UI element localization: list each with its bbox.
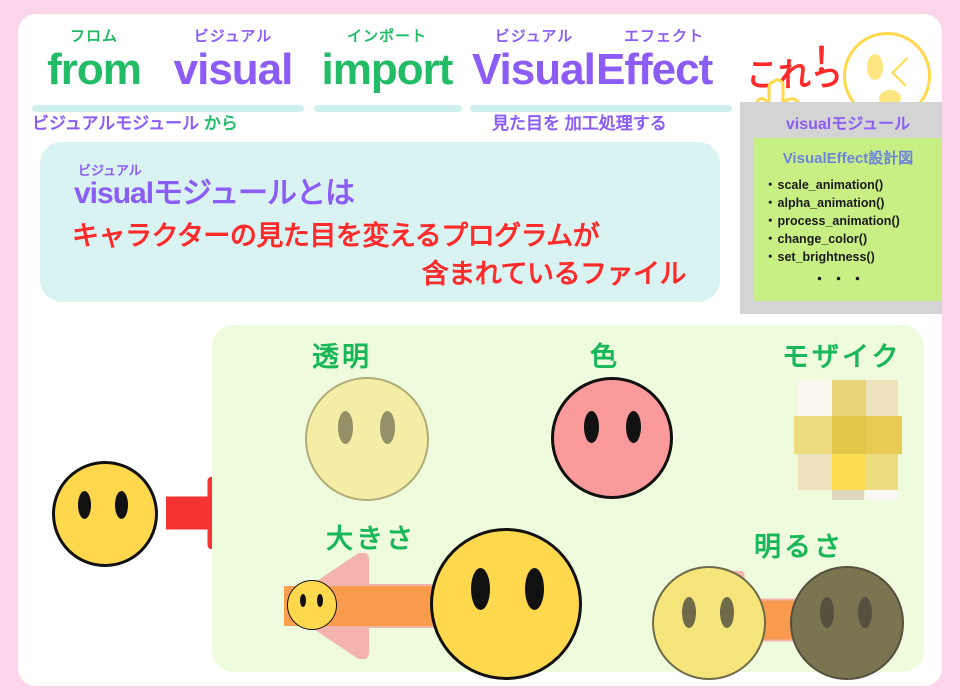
face-size-small-eye-right [317, 594, 323, 607]
face-transparency-eye-right [380, 411, 395, 444]
blueprint-box: VisualEffect設計図 scale_animation() alpha_… [754, 138, 942, 301]
list-item: scale_animation() [764, 176, 942, 194]
info-line-1: キャラクターの見た目を変えるプログラムが [72, 214, 599, 253]
title-word-import: インポート import [312, 28, 462, 95]
mosaic-cell [866, 454, 898, 490]
main-import: import [312, 45, 462, 95]
face-brightness-bright-eye-left [682, 597, 696, 628]
face-size-large [430, 528, 582, 680]
module-box: visualモジュール VisualEffect設計図 scale_animat… [740, 102, 942, 314]
title-row: フロム from ビジュアル visual インポート import ビジュアル… [30, 28, 730, 138]
ruby-from: フロム [30, 28, 158, 45]
face-size-small [287, 580, 337, 630]
label-transparency: 透明 [312, 335, 372, 374]
original-face-eye-right [115, 491, 128, 519]
mosaic-cell [798, 454, 832, 490]
module-title-code: visual [786, 116, 831, 133]
face-brightness-bright-eye-right [720, 597, 734, 628]
mosaic-cell [832, 490, 864, 500]
ruby-visual: ビジュアル [160, 28, 306, 45]
function-list-ellipsis: ・・・ [740, 269, 942, 289]
main-effect: Effect [596, 45, 732, 95]
info-head-code: visual [74, 177, 153, 210]
sub-right-green2: 加工処理する [560, 114, 667, 133]
sub-right-purple: 見た目を [492, 114, 560, 133]
title-word-from: フロム from [30, 28, 158, 95]
mosaic-graphic [794, 380, 902, 492]
ruby-import: インポート [312, 28, 462, 45]
mosaic-cell [798, 380, 832, 416]
face-size-small-eye-left [300, 594, 306, 607]
info-ruby: ビジュアル [78, 164, 354, 177]
module-box-title: visualモジュール [740, 110, 942, 134]
face-color-eye-right [626, 411, 641, 443]
list-item: change_color() [764, 230, 942, 248]
effects-panel: 透明 色 モザイク 大きさ [212, 325, 924, 672]
main-from: from [30, 45, 158, 95]
sub-caption-left: ビジュアルモジュール から [32, 113, 238, 135]
infographic-canvas: フロム from ビジュアル visual インポート import ビジュアル… [18, 14, 942, 686]
face-size-large-eye-right [525, 568, 544, 610]
mascot-eye-icon [867, 54, 883, 80]
sub-left-green: から [199, 114, 238, 133]
main-visual: visual [160, 45, 306, 95]
mosaic-cell [832, 416, 866, 454]
face-transparency [305, 377, 429, 501]
title-word-visual: ビジュアル visual [160, 28, 306, 95]
mosaic-cell [866, 380, 898, 416]
label-size: 大きさ [326, 517, 416, 556]
mosaic-cell [832, 380, 866, 416]
face-color [551, 377, 673, 499]
label-brightness: 明るさ [754, 525, 844, 564]
info-heading: ビジュアル visualモジュールとは [74, 164, 354, 211]
mosaic-cell [866, 490, 898, 500]
original-face-eye-left [78, 491, 91, 519]
original-face [52, 461, 158, 567]
function-list: scale_animation() alpha_animation() proc… [764, 176, 942, 266]
title-word-effect: エフェクト Effect [596, 28, 732, 95]
ruby-visual2: ビジュアル [466, 28, 602, 45]
info-head-jp: モジュールとは [153, 177, 354, 210]
info-box: ビジュアル visualモジュールとは キャラクターの見た目を変えるプログラムが… [40, 142, 720, 302]
mosaic-cell [866, 416, 902, 454]
list-item: process_animation() [764, 212, 942, 230]
list-item: set_brightness() [764, 248, 942, 266]
face-color-eye-left [584, 411, 599, 443]
face-brightness-dark-eye-right [858, 597, 872, 628]
label-mosaic: モザイク [782, 335, 901, 374]
face-transparency-eye-left [338, 411, 353, 444]
info-line-2: 含まれているファイル [422, 252, 686, 291]
mosaic-cell [832, 454, 866, 490]
original-face-base [52, 461, 158, 567]
ruby-effect: エフェクト [596, 28, 732, 45]
mosaic-cell [794, 416, 832, 454]
title-word-visual2: ビジュアル Visual [466, 28, 602, 95]
label-color: 色 [590, 335, 620, 374]
face-brightness-dark-eye-left [820, 597, 834, 628]
sub-caption-right: 見た目を 加工処理する [492, 113, 667, 135]
blueprint-title: VisualEffect設計図 [754, 147, 942, 168]
callout-exclamation: ！ [813, 44, 847, 78]
face-size-large-eye-left [471, 568, 490, 610]
list-item: alpha_animation() [764, 194, 942, 212]
underbar-1 [32, 105, 304, 112]
main-visual2: Visual [466, 45, 602, 95]
face-brightness-dark [790, 566, 904, 680]
module-title-jp: モジュール [831, 116, 910, 133]
face-brightness-bright [652, 566, 766, 680]
underbar-2 [314, 105, 462, 112]
sub-left-purple: ビジュアルモジュール [32, 114, 199, 133]
info-head-text: visualモジュールとは [74, 177, 354, 211]
underbar-3 [470, 105, 732, 112]
